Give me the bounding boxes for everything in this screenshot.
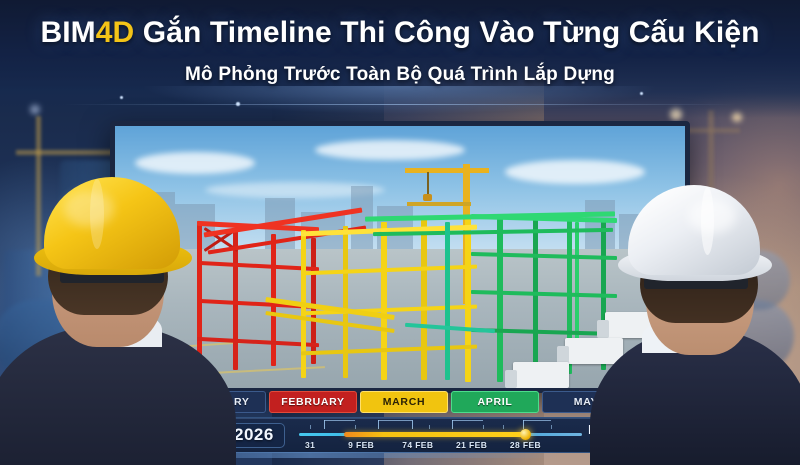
- column-green: [497, 214, 503, 382]
- month-april[interactable]: APRIL: [451, 391, 539, 413]
- tick: [483, 425, 484, 429]
- column-yellow: [381, 222, 387, 380]
- site-worker: [331, 370, 339, 388]
- sparkle: [640, 92, 643, 95]
- day-tick-label: 9 FEB: [348, 440, 374, 450]
- page-title: BIM4D Gắn Timeline Thi Công Vào Từng Cấu…: [0, 16, 800, 50]
- tick: [523, 420, 524, 429]
- timeline-progress: [344, 432, 525, 437]
- page-subtitle: Mô Phỏng Trước Toàn Bộ Quá Trình Lắp Dựn…: [0, 64, 800, 86]
- brand-4d: 4D: [96, 16, 135, 49]
- tick-bar: [378, 420, 412, 421]
- tower-crane-hook: [423, 194, 432, 201]
- engineer-yellow-helmet: [0, 180, 236, 465]
- column-teal: [445, 222, 450, 380]
- tick: [503, 425, 504, 429]
- site-worker: [347, 368, 355, 388]
- tower-crane-platform: [407, 202, 471, 206]
- tower-crane-jib: [405, 168, 471, 173]
- tick-bar: [523, 420, 551, 421]
- day-tick-label: 31: [305, 440, 315, 450]
- timeline-track[interactable]: 2026: [178, 417, 630, 453]
- engineer-white-helmet: [590, 190, 800, 465]
- day-tick-label: 74 FEB: [402, 440, 433, 450]
- tick: [324, 420, 325, 429]
- tick: [355, 425, 356, 429]
- day-tick-label: 21 FEB: [456, 440, 487, 450]
- hard-hat: [44, 177, 180, 269]
- column-yellow: [343, 226, 348, 378]
- site-worker: [291, 366, 299, 388]
- day-tick-label: 28 FEB: [510, 440, 541, 450]
- column-green: [533, 214, 538, 378]
- sparkle: [236, 102, 240, 106]
- tick: [378, 420, 379, 429]
- tower-crane-cable: [427, 172, 429, 196]
- cloud: [505, 160, 645, 184]
- column-yellow: [465, 216, 471, 382]
- site-worker: [519, 358, 527, 382]
- tick: [452, 420, 453, 429]
- tick: [551, 425, 552, 429]
- truck-cab: [505, 370, 517, 388]
- helmet-highlight: [64, 191, 114, 227]
- month-february[interactable]: FEBRUARY: [269, 391, 357, 413]
- site-worker: [445, 330, 452, 350]
- brand-bim: BIM: [40, 16, 95, 49]
- site-worker: [317, 372, 325, 388]
- tick-marks: [299, 420, 582, 431]
- timeline-scrub-handle[interactable]: [520, 429, 531, 440]
- headline-divider: [64, 104, 736, 105]
- headline-text: Gắn Timeline Thi Công Vào Từng Cấu Kiện: [143, 16, 760, 49]
- month-strip[interactable]: JANUARY FEBRUARY MARCH APRIL MAY: [178, 391, 630, 413]
- tick-bar: [452, 420, 483, 421]
- site-worker: [235, 334, 242, 354]
- headline-glow: [0, 86, 800, 126]
- helmet-highlight: [688, 199, 736, 233]
- day-labels: 31 9 FEB 74 FEB 21 FEB 28 FEB: [299, 440, 582, 452]
- tick: [412, 420, 413, 429]
- column-yellow: [421, 218, 427, 380]
- hard-hat: [628, 185, 760, 275]
- timeline-hud[interactable]: JANUARY FEBRUARY MARCH APRIL MAY 2026: [178, 391, 630, 453]
- tick-bar: [324, 420, 355, 421]
- tick: [310, 425, 311, 429]
- bim-4d-banner: BIM4D Gắn Timeline Thi Công Vào Từng Cấu…: [0, 0, 800, 465]
- cloud: [315, 140, 465, 160]
- tower-crane-counter-jib: [467, 168, 489, 173]
- sparkle: [120, 96, 123, 99]
- month-march[interactable]: MARCH: [360, 391, 448, 413]
- timeline-scrubber[interactable]: 31 9 FEB 74 FEB 21 FEB 28 FEB: [299, 418, 582, 452]
- cloud: [135, 152, 255, 174]
- tick: [429, 425, 430, 429]
